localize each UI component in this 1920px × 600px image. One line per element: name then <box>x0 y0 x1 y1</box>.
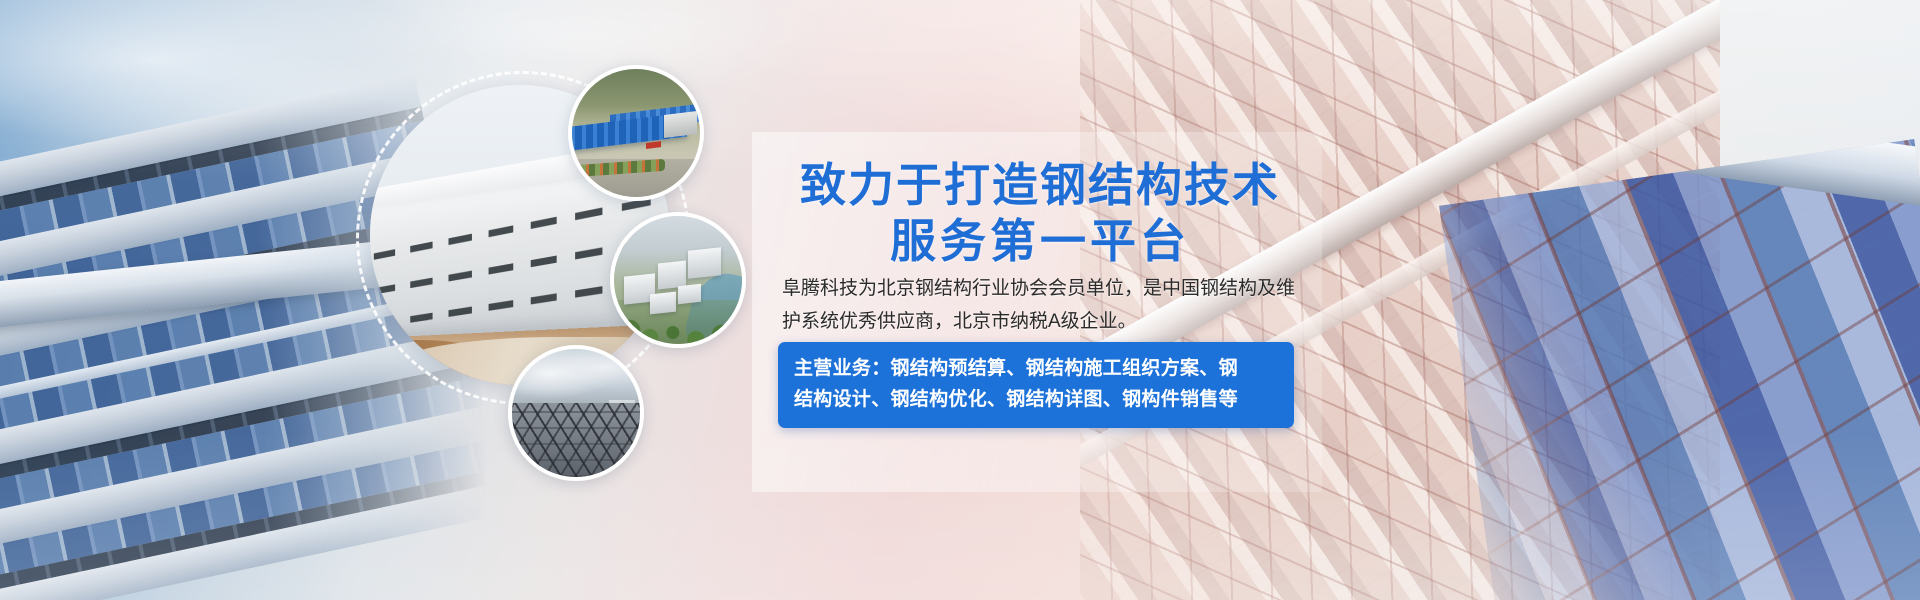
hero-banner: 致力于打造钢结构技术 服务第一平台 阜腾科技为北京钢结构行业协会会员单位，是中国… <box>0 0 1920 600</box>
intro-line-2: 护系统优秀供应商，北京市纳税A级企业。 <box>782 305 1298 338</box>
right-glass-curtain-wall-image <box>1439 139 1920 600</box>
services-badge: 主营业务：钢结构预结算、钢结构施工组织方案、钢 结构设计、钢结构优化、钢结构详图… <box>778 342 1294 428</box>
company-intro-text: 阜腾科技为北京钢结构行业协会会员单位，是中国钢结构及维 护系统优秀供应商，北京市… <box>782 272 1298 338</box>
headline-line-2: 服务第一平台 <box>790 214 1290 270</box>
headline-line-1: 致力于打造钢结构技术 <box>790 158 1290 214</box>
photo-collage <box>350 40 770 520</box>
services-line-2: 结构设计、钢结构优化、钢结构详图、钢构件销售等 <box>794 384 1278 415</box>
industrial-park-aerial-photo <box>568 65 704 201</box>
steel-space-frame-truss-photo <box>508 345 644 481</box>
intro-line-1: 阜腾科技为北京钢结构行业协会会员单位，是中国钢结构及维 <box>782 272 1298 305</box>
banner-headline: 致力于打造钢结构技术 服务第一平台 <box>790 158 1290 270</box>
services-line-1: 主营业务：钢结构预结算、钢结构施工组织方案、钢 <box>794 353 1278 384</box>
office-campus-aerial-photo <box>610 212 746 348</box>
